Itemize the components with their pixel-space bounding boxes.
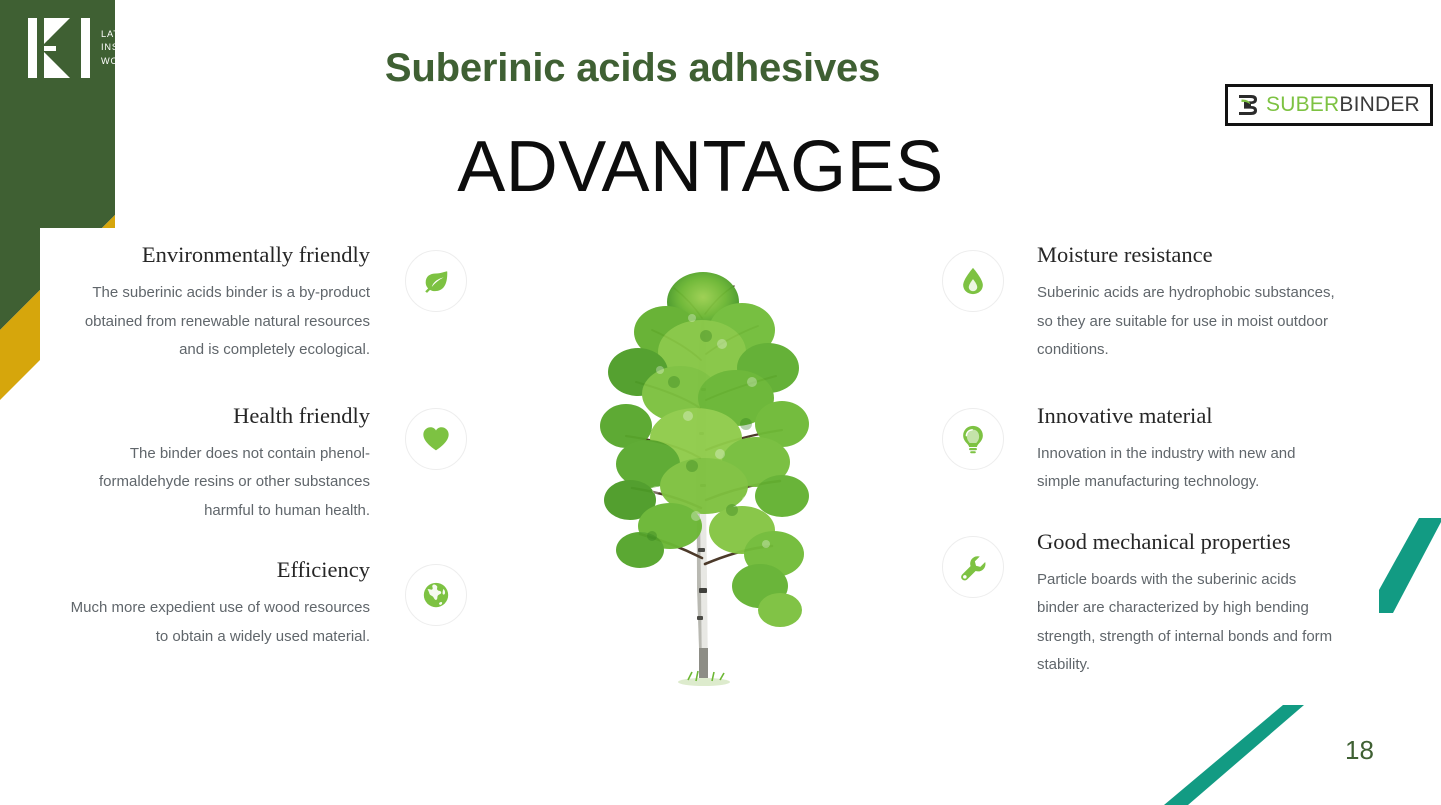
teal-accent-bottom [1164,705,1304,805]
leaf-icon-circle [405,250,467,312]
feature-environmentally-friendly: Environmentally friendly The suberinic a… [65,240,370,365]
wrench-icon-circle [942,536,1004,598]
leaf-icon [421,266,451,296]
feature-title: Efficiency [65,555,370,585]
feature-body: Much more expedient use of wood resource… [65,594,370,651]
feature-body: Suberinic acids are hydrophobic substanc… [1037,279,1342,365]
features-column-left: Environmentally friendly The suberinic a… [65,240,370,673]
feature-moisture-resistance: Moisture resistance Suberinic acids are … [1037,240,1342,365]
feature-title: Environmentally friendly [65,240,370,270]
slide-subtitle: ADVANTAGES [0,126,1421,208]
feature-efficiency: Efficiency Much more expedient use of wo… [65,555,370,651]
feature-title: Health friendly [65,401,370,431]
presentation-slide: LATVIAN STATE INSTITUTE OF WOOD CHEMISTR… [0,0,1441,805]
feature-title: Moisture resistance [1037,240,1342,270]
feature-body: Particle boards with the suberinic acids… [1037,566,1342,680]
page-number: 18 [1345,735,1374,766]
features-column-right: Moisture resistance Suberinic acids are … [1037,240,1342,702]
lightbulb-icon [958,424,988,454]
wrench-icon [958,552,988,582]
birch-tree-illustration [596,248,811,696]
heart-icon-circle [405,408,467,470]
globe-icon [421,580,451,610]
globe-icon-circle [405,564,467,626]
feature-body: The suberinic acids binder is a by-produ… [65,279,370,365]
feature-body: The binder does not contain phenol-forma… [65,440,370,526]
heart-icon [421,424,451,454]
feature-innovative-material: Innovative material Innovation in the in… [1037,401,1342,497]
slide-title: Suberinic acids adhesives [0,46,1353,91]
suberbinder-logo: SUBERBINDER [1225,84,1433,126]
suberbinder-wordmark: SUBERBINDER [1266,93,1420,117]
suberbinder-word-suber: SUBER [1266,93,1339,116]
feature-body: Innovation in the industry with new and … [1037,440,1342,497]
lightbulb-icon-circle [942,408,1004,470]
water-drop-icon-circle [942,250,1004,312]
feature-title: Good mechanical properties [1037,527,1342,557]
suberbinder-word-binder: BINDER [1339,93,1420,116]
suberbinder-b-mark-icon [1237,93,1259,117]
feature-health-friendly: Health friendly The binder does not cont… [65,401,370,526]
water-drop-icon [958,266,988,296]
institute-line-1: LATVIAN STATE [101,28,199,41]
tree-svg [596,248,811,696]
feature-good-mechanical-properties: Good mechanical properties Particle boar… [1037,527,1342,680]
feature-title: Innovative material [1037,401,1342,431]
